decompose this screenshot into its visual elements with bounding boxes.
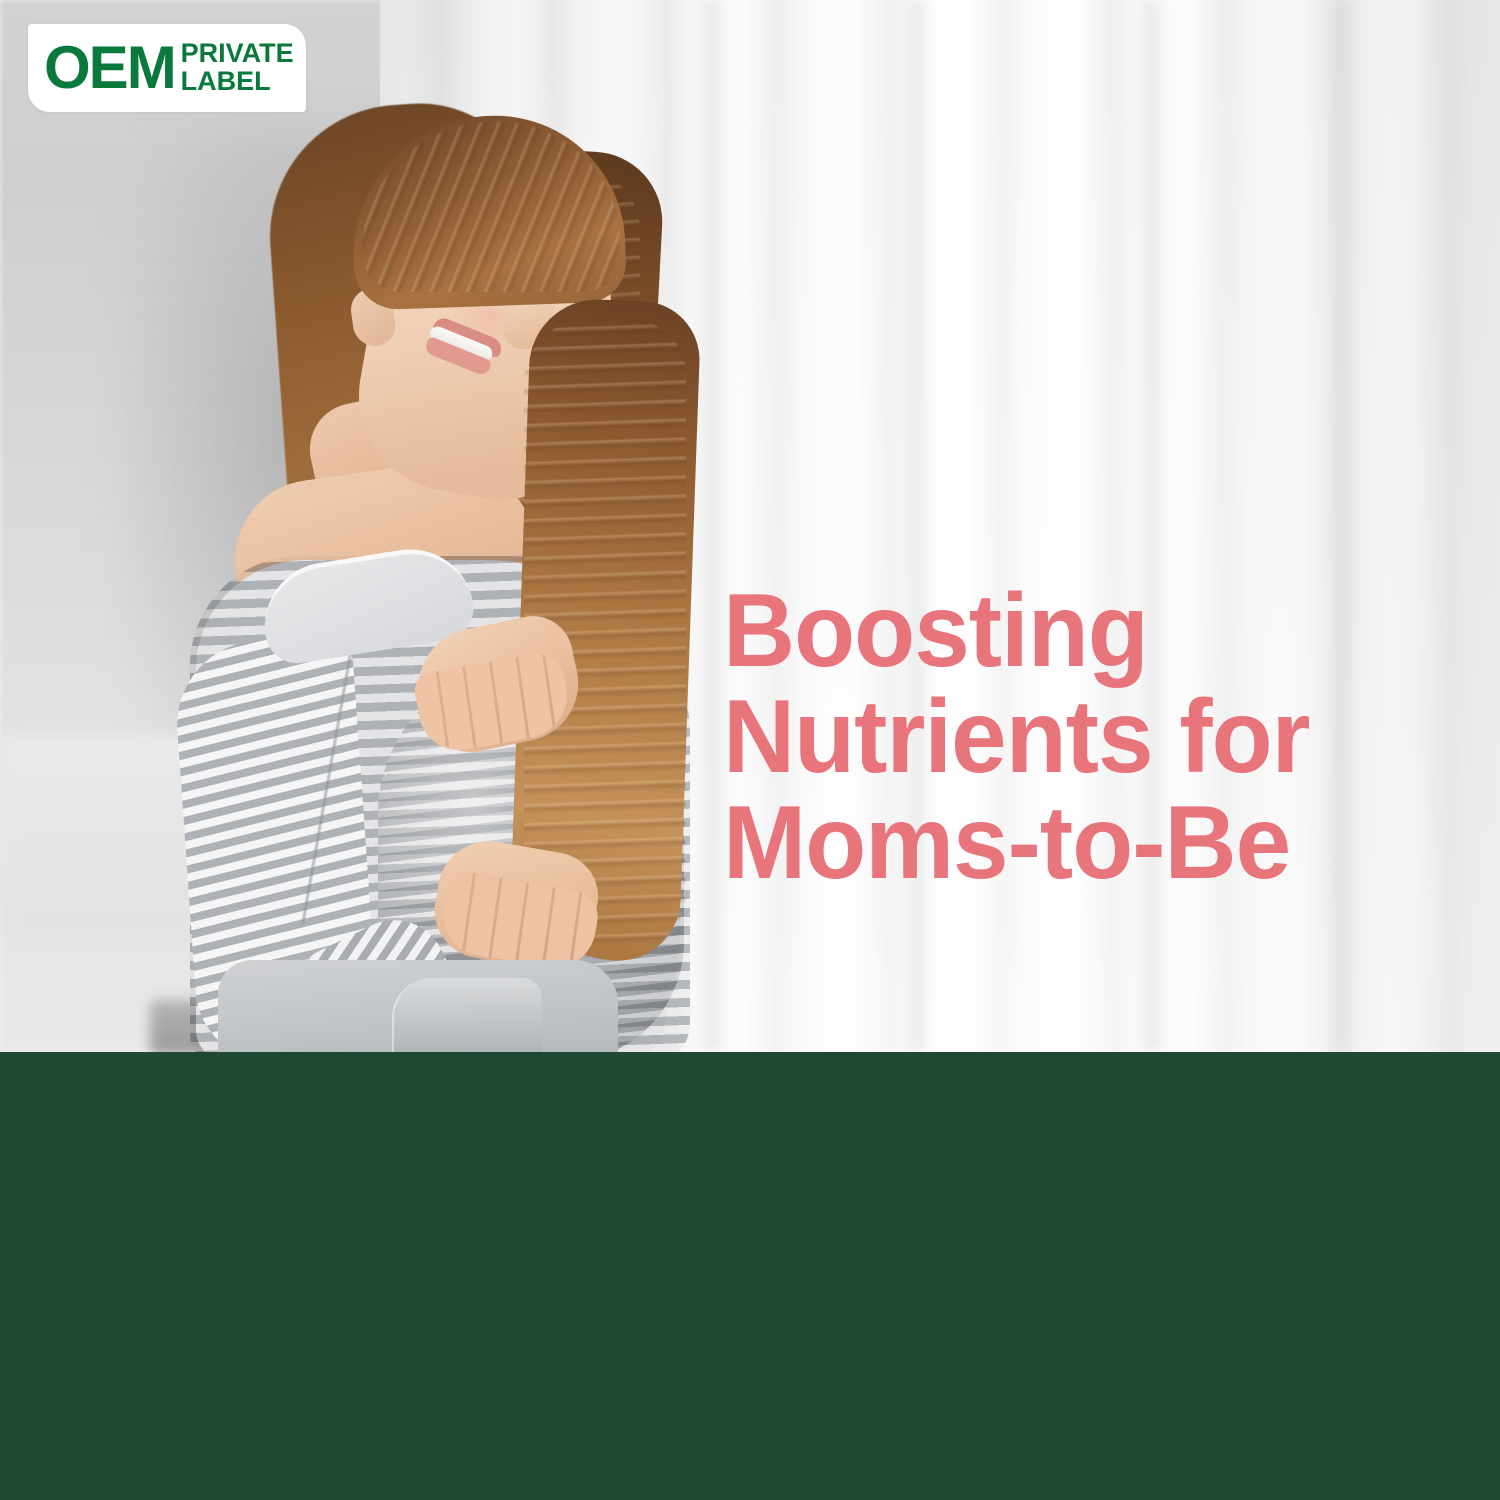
headline-line-3: Moms-to-Be: [723, 790, 1414, 896]
hero-photo: Boosting Nutrients for Moms-to-Be OEM PR…: [0, 0, 1500, 1052]
benefit-panel: Immune Support Boost your immune system …: [0, 1052, 1500, 1500]
sweatpants-pocket: [392, 978, 542, 1052]
headline-line-2: Nutrients for: [723, 684, 1414, 790]
oem-private-label-logo[interactable]: OEM PRIVATE LABEL: [28, 24, 306, 112]
logo-label-text: LABEL: [181, 68, 294, 96]
product-marketing-poster: Boosting Nutrients for Moms-to-Be OEM PR…: [0, 0, 1500, 1500]
headline-line-1: Boosting: [723, 578, 1414, 684]
logo-oem-text: OEM: [44, 38, 175, 98]
logo-text-stack: PRIVATE LABEL: [181, 40, 294, 95]
hero-headline: Boosting Nutrients for Moms-to-Be: [723, 578, 1414, 896]
logo-private-text: PRIVATE: [181, 40, 294, 68]
